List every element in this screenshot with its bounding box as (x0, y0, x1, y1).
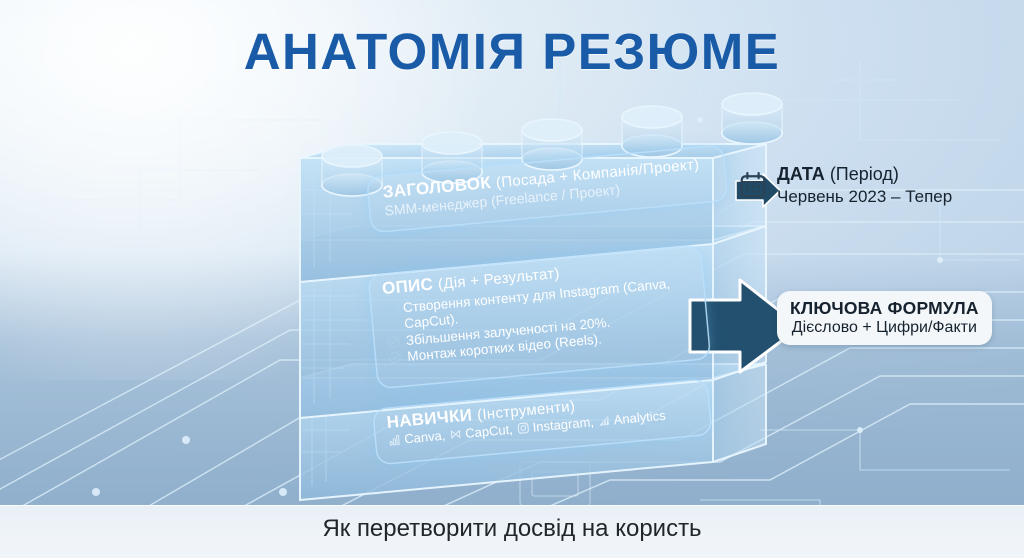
date-label-line: ДАТА (Період) (777, 163, 952, 186)
description-heading-bold: ОПИС (381, 274, 434, 298)
key-formula-callout: КЛЮЧОВА ФОРМУЛА Дієслово + Цифри/Факти (777, 291, 992, 345)
check-circle-icon (388, 351, 402, 365)
check-circle-icon (386, 335, 400, 349)
instagram-icon (516, 421, 530, 435)
key-formula-subtitle: Дієслово + Цифри/Факти (790, 319, 979, 337)
stud (722, 93, 782, 144)
date-value: Червень 2023 – Тепер (777, 186, 952, 207)
tool-label: Canva, (404, 428, 446, 447)
calendar-icon (738, 170, 768, 200)
canva-icon (388, 433, 402, 446)
date-label-paren: (Період) (830, 164, 899, 184)
key-formula-title: КЛЮЧОВА ФОРМУЛА (790, 298, 979, 319)
date-label-bold: ДАТА (777, 164, 825, 184)
tool-label: Analytics (613, 408, 666, 428)
check-circle-icon (383, 302, 397, 316)
analytics-icon (597, 414, 611, 427)
capcut-icon (449, 428, 463, 441)
infographic-canvas: АНАТОМІЯ РЕЗЮМЕ (0, 0, 1024, 558)
date-callout: ДАТА (Період) Червень 2023 – Тепер (738, 163, 952, 207)
page-caption: Як перетворити досвід на користь (0, 515, 1024, 543)
tool-label: CapCut, (465, 422, 514, 441)
